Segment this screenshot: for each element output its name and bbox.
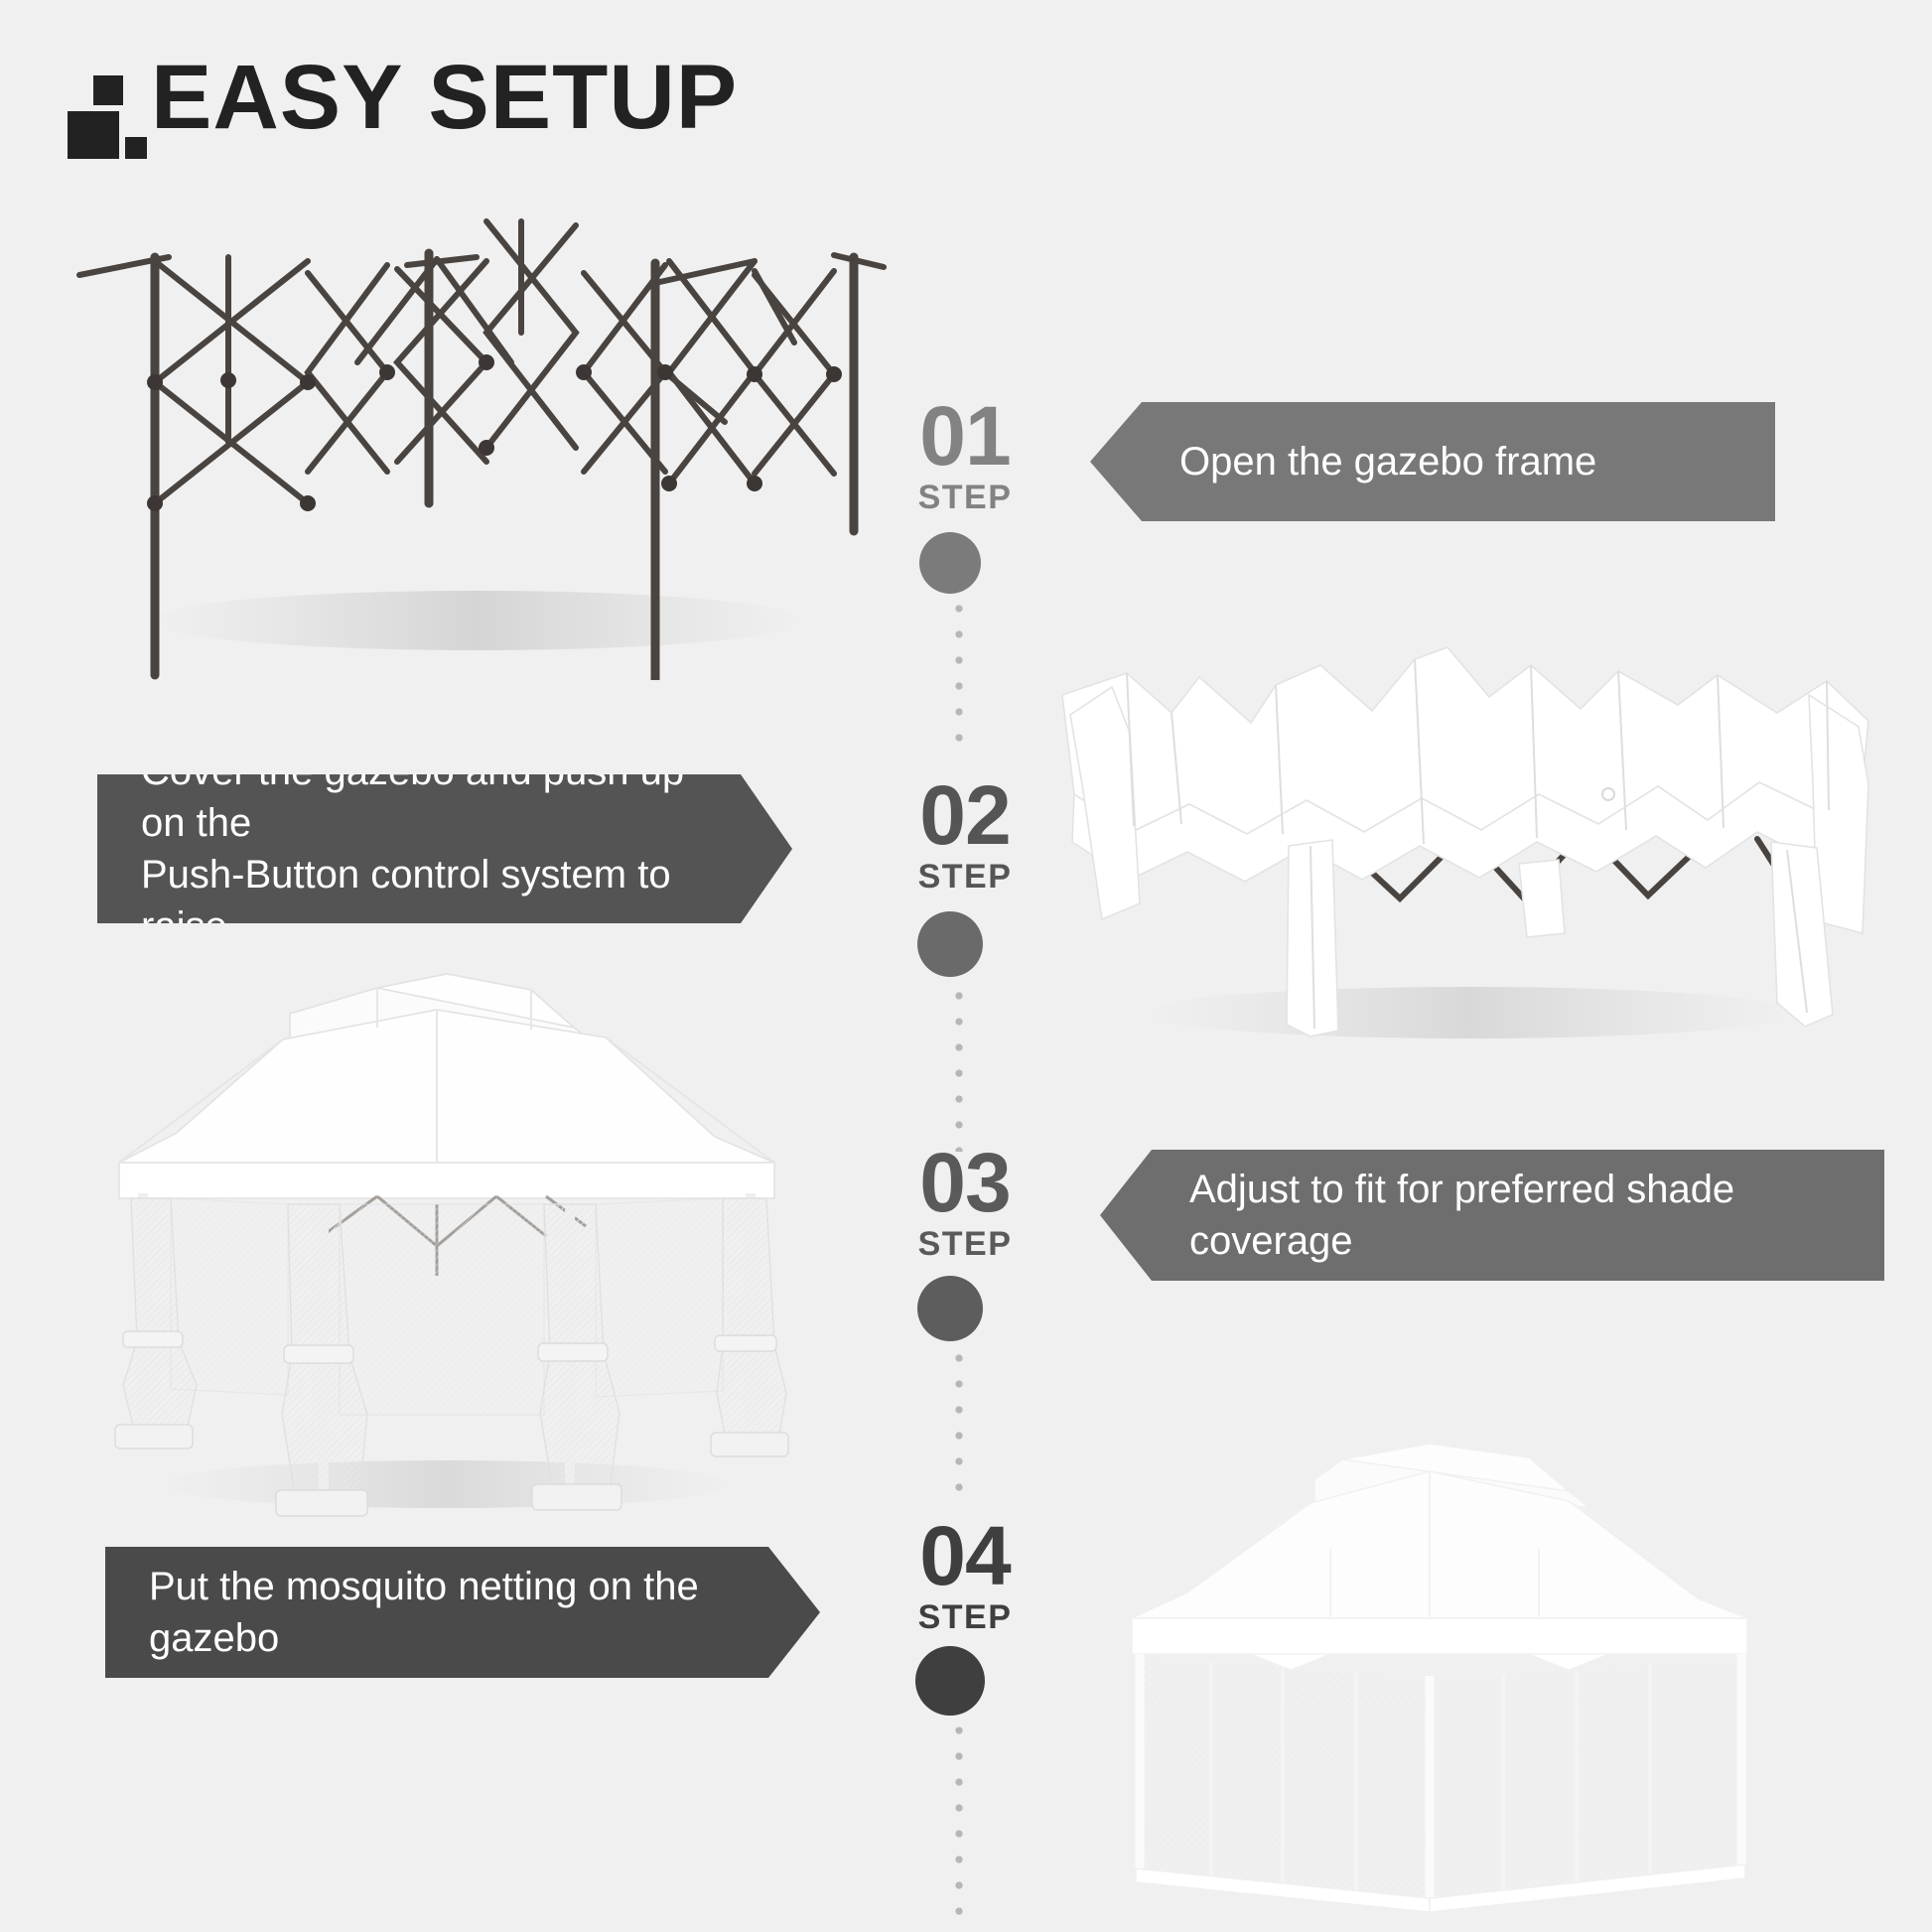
timeline-node-01: [919, 532, 981, 594]
page-header: EASY SETUP: [0, 0, 1932, 199]
step-03-number: 03: [866, 1144, 1064, 1223]
step-03-label: STEP: [866, 1225, 1064, 1264]
step-03-caption-text: Adjust to fit for preferred shade covera…: [1189, 1164, 1841, 1267]
timeline-node-02: [917, 911, 983, 977]
logo-square-large: [68, 111, 119, 159]
logo-square-top: [93, 75, 123, 105]
brand-logo-icon: [68, 75, 135, 151]
step-03-number-block: 03 STEP: [866, 1144, 1064, 1264]
step-01-label: STEP: [866, 479, 1064, 517]
step-02-caption-line1: Cover the gazebo and push up on the: [141, 750, 684, 845]
step-04-number: 04: [866, 1517, 1064, 1596]
step-02-caption-banner[interactable]: Cover the gazebo and push up on the Push…: [97, 774, 792, 923]
photo-gazebo-frame-open: [60, 213, 894, 680]
photo-gazebo-canopy-draped: [1023, 635, 1886, 1062]
page-title: EASY SETUP: [151, 52, 738, 143]
photo-gazebo-with-mosquito-netting: [1102, 1410, 1807, 1932]
step-04-caption-text: Put the mosquito netting on the gazebo: [149, 1561, 731, 1664]
step-02-caption-line2: Push-Button control system to raise: [141, 853, 671, 948]
timeline-dotted-line-1: [953, 596, 965, 755]
photo-gazebo-raised-with-curtains: [79, 948, 814, 1544]
logo-square-dot: [125, 137, 147, 159]
timeline-dotted-line-2: [953, 983, 965, 1152]
step-04-label: STEP: [866, 1598, 1064, 1637]
timeline-dotted-line-4: [953, 1718, 965, 1926]
step-02-caption-text: Cover the gazebo and push up on the Push…: [141, 746, 703, 952]
step-01-caption-text: Open the gazebo frame: [1179, 436, 1596, 487]
timeline-dotted-line-3: [953, 1345, 965, 1509]
step-01-number: 01: [866, 397, 1064, 477]
step-01-caption-banner[interactable]: Open the gazebo frame: [1090, 402, 1775, 521]
step-04-caption-banner[interactable]: Put the mosquito netting on the gazebo: [105, 1547, 820, 1678]
timeline-node-03: [917, 1276, 983, 1341]
step-03-caption-banner[interactable]: Adjust to fit for preferred shade covera…: [1100, 1150, 1884, 1281]
step-04-number-block: 04 STEP: [866, 1517, 1064, 1637]
step-01-number-block: 01 STEP: [866, 397, 1064, 517]
timeline-node-04: [915, 1646, 985, 1716]
